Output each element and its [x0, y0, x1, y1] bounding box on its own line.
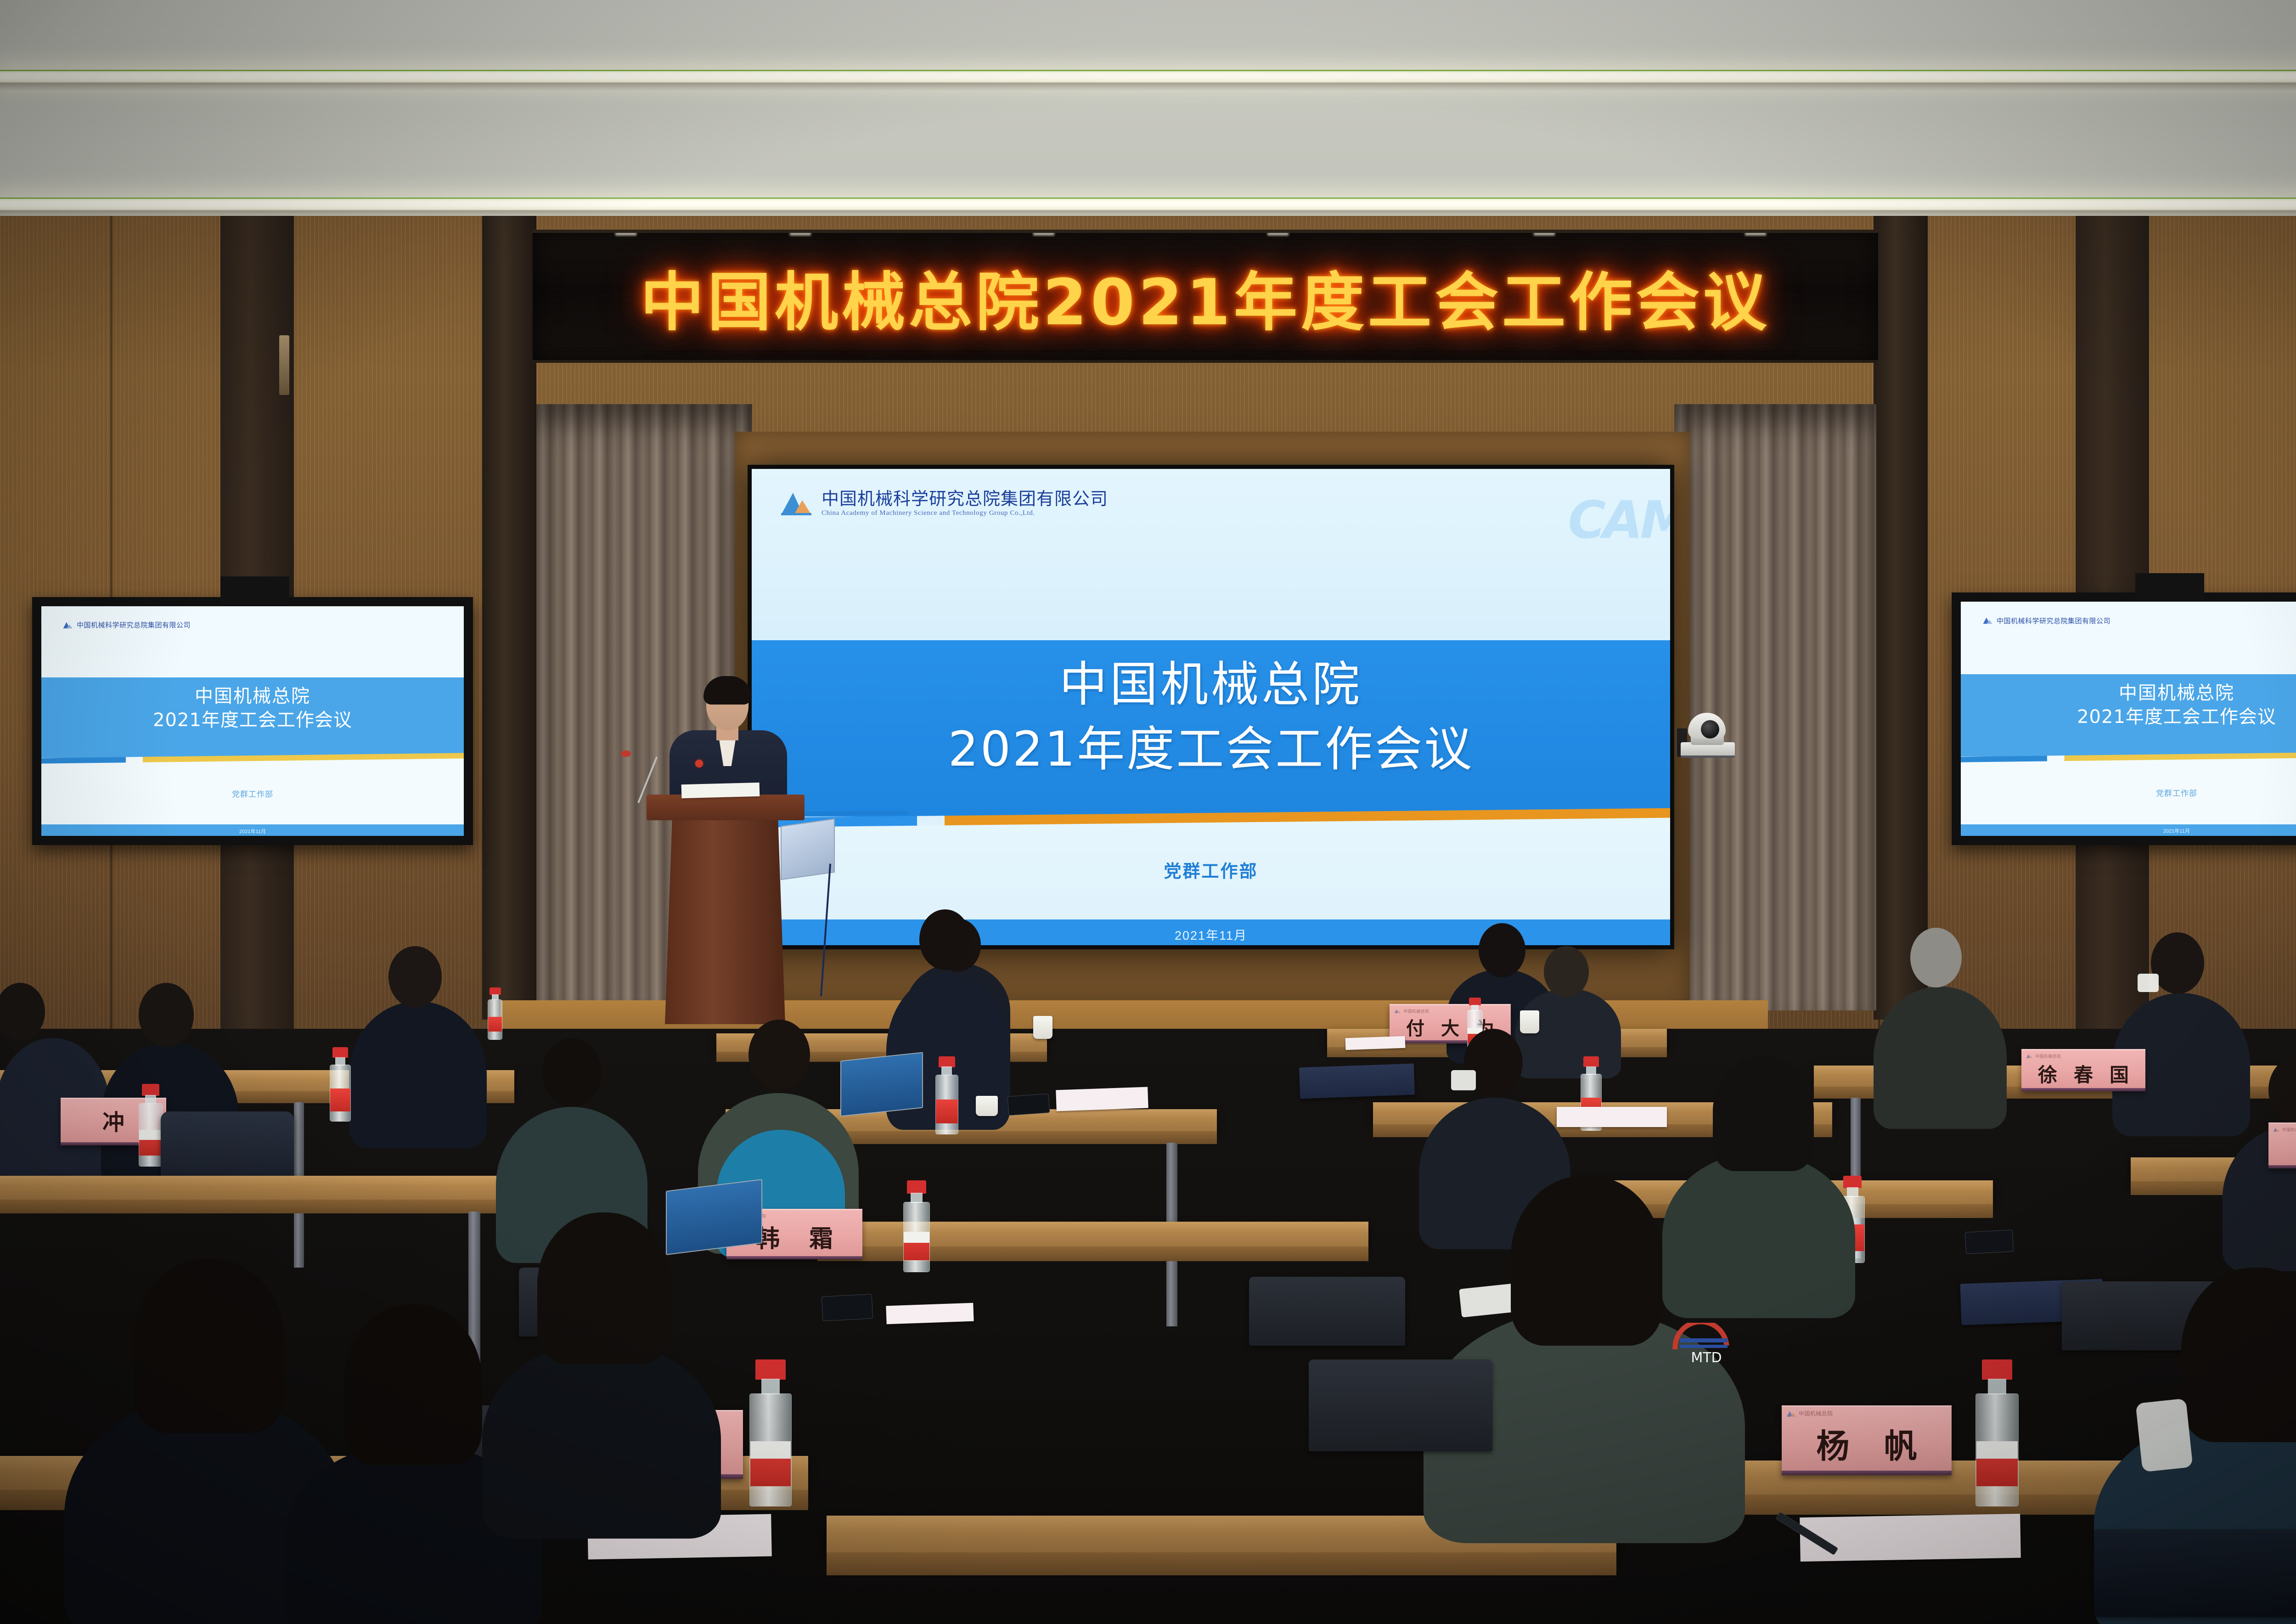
slide-title-line1: 中国机械总院: [752, 652, 1670, 716]
ceiling-light-strip-lower: [0, 197, 2296, 209]
chair-d2: [1309, 1359, 1492, 1451]
placard-name-xuchunguo: 徐 春 国: [2021, 1059, 2145, 1091]
phone-c2: [1965, 1229, 2014, 1254]
paper-cup-a1: [1033, 1016, 1052, 1039]
microphone-head-icon: [621, 750, 631, 757]
placard-name-baojie: 包 捷: [2268, 1133, 2296, 1168]
conference-room-photo: 中国机械总院2021年度工会工作会议 CAM: [0, 0, 2296, 1624]
cam-watermark: CAM: [1568, 491, 1670, 550]
company-name-en: China Academy of Machinery Science and T…: [822, 510, 1108, 517]
slide-title-line2: 2021年度工会工作会议: [752, 717, 1670, 781]
side-monitor-left: 中国机械科学研究总院集团有限公司 中国机械总院 2021年度工会工作会议 党群工…: [32, 597, 473, 845]
left-monitor-title: 中国机械总院 2021年度工会工作会议: [41, 684, 464, 732]
wall-sconce: [279, 335, 289, 395]
company-logo: 中国机械科学研究总院集团有限公司 China Academy of Machin…: [779, 490, 1108, 517]
side-monitor-right: 中国机械科学研究总院集团有限公司 中国机械总院 2021年度工会工作会议 党群工…: [1952, 592, 2296, 845]
pilaster-left: [482, 216, 536, 1020]
water-bottle-b3: [934, 1056, 959, 1134]
right-monitor-title: 中国机械总院 2021年度工会工作会议: [1961, 681, 2296, 729]
left-monitor-department: 党群工作部: [41, 788, 464, 799]
placard-name-yangfan: 杨 帆: [1782, 1417, 1952, 1475]
attendee-b3: [349, 946, 487, 1144]
water-bottle-b1: [138, 1084, 163, 1167]
placard-baojie: 中国机械总院 包 捷: [2268, 1122, 2296, 1168]
left-monitor-logo: 中国机械科学研究总院集团有限公司: [62, 620, 191, 630]
pilaster-right: [1874, 216, 1928, 1020]
face-mask-c3: [1451, 1070, 1476, 1090]
left-monitor-bracket: [220, 576, 289, 604]
work-jacket-logo-d2: MTD: [1667, 1323, 1745, 1364]
left-monitor-title-line2: 2021年度工会工作会议: [41, 708, 464, 732]
left-monitor-screen: 中国机械科学研究总院集团有限公司 中国机械总院 2021年度工会工作会议 党群工…: [41, 606, 464, 836]
right-monitor-title-line2: 2021年度工会工作会议: [1961, 705, 2296, 729]
svg-text:MTD: MTD: [1691, 1350, 1722, 1364]
left-monitor-logo-text: 中国机械科学研究总院集团有限公司: [77, 620, 191, 630]
placard-brand-xuchunguo: 中国机械总院: [2021, 1050, 2145, 1059]
ceiling-light-strip-upper: [0, 70, 2296, 82]
tablet-d1: [2094, 1529, 2296, 1617]
paper-cup-b1: [976, 1096, 998, 1116]
triangle-logo-icon: [779, 490, 815, 517]
right-monitor-screen: 中国机械科学研究总院集团有限公司 中国机械总院 2021年度工会工作会议 党群工…: [1961, 602, 2296, 836]
attendee-e2: [482, 1212, 721, 1534]
water-bottle-d1: [748, 1359, 793, 1506]
phone-c1: [822, 1294, 873, 1321]
placard-xuchunguo: 中国机械总院 徐 春 国: [2021, 1049, 2145, 1091]
ptz-camera-icon: [1681, 711, 1735, 758]
phone-b1: [1007, 1094, 1050, 1116]
desk-row-c-left: [0, 1176, 519, 1201]
chair-c1: [1249, 1277, 1405, 1346]
led-banner: 中国机械总院2021年度工会工作会议: [533, 230, 1878, 363]
attendee-e3: [1662, 1056, 1855, 1314]
main-projection-screen: CAM 中国机械科学研究总院集团有限公司 China Academy of Ma…: [748, 465, 1674, 949]
paper-c1: [886, 1303, 974, 1325]
placard-brand-baojie: 中国机械总院: [2268, 1124, 2296, 1133]
paper-b1: [1056, 1087, 1148, 1111]
right-monitor-bracket: [2135, 573, 2204, 600]
placard-yangfan: 中国机械总院 杨 帆: [1782, 1405, 1952, 1475]
face-mask-b6: [2138, 974, 2159, 992]
ceiling: [0, 0, 2296, 239]
right-monitor-department: 党群工作部: [1961, 787, 2296, 798]
water-bottle-d2: [1975, 1359, 2020, 1506]
right-monitor-logo: 中国机械科学研究总院集团有限公司: [1982, 616, 2110, 626]
slide-title-block: 中国机械总院 2021年度工会工作会议: [752, 652, 1670, 781]
left-monitor-date: 2021年11月: [41, 828, 464, 835]
paper-b2: [1557, 1107, 1667, 1127]
water-bottle-c1: [902, 1180, 931, 1272]
notebook-b1: [1299, 1064, 1415, 1099]
curtain-right: [1674, 404, 1876, 1010]
water-bottle-b2: [329, 1047, 352, 1122]
desk-row-c-mid: [817, 1222, 1368, 1248]
led-banner-text: 中国机械总院2021年度工会工作会议: [641, 251, 1770, 343]
placard-brand-yangfan: 中国机械总院: [1782, 1407, 1952, 1417]
face-mask-d3: [2135, 1398, 2193, 1472]
right-monitor-title-line1: 中国机械总院: [1961, 681, 2296, 705]
speaker-notes: [681, 783, 760, 798]
left-monitor-title-line1: 中国机械总院: [41, 684, 464, 708]
presentation-slide: CAM 中国机械科学研究总院集团有限公司 China Academy of Ma…: [752, 469, 1670, 945]
lapel-badge-icon: [695, 760, 703, 767]
water-bottle-a2: [487, 987, 503, 1040]
attendee-b5: [1874, 928, 2007, 1121]
right-monitor-date: 2021年11月: [1961, 827, 2296, 835]
banner-glints: [533, 232, 1878, 237]
placard-brand-fudawei: 中国机械总院: [1390, 1005, 1511, 1014]
paper-a1: [1345, 1036, 1406, 1050]
podium: [657, 795, 794, 1024]
slide-department: 党群工作部: [752, 857, 1670, 882]
company-name-cn: 中国机械科学研究总院集团有限公司: [822, 490, 1108, 507]
right-monitor-logo-text: 中国机械科学研究总院集团有限公司: [1997, 616, 2110, 626]
attendee-b1: [0, 983, 110, 1176]
